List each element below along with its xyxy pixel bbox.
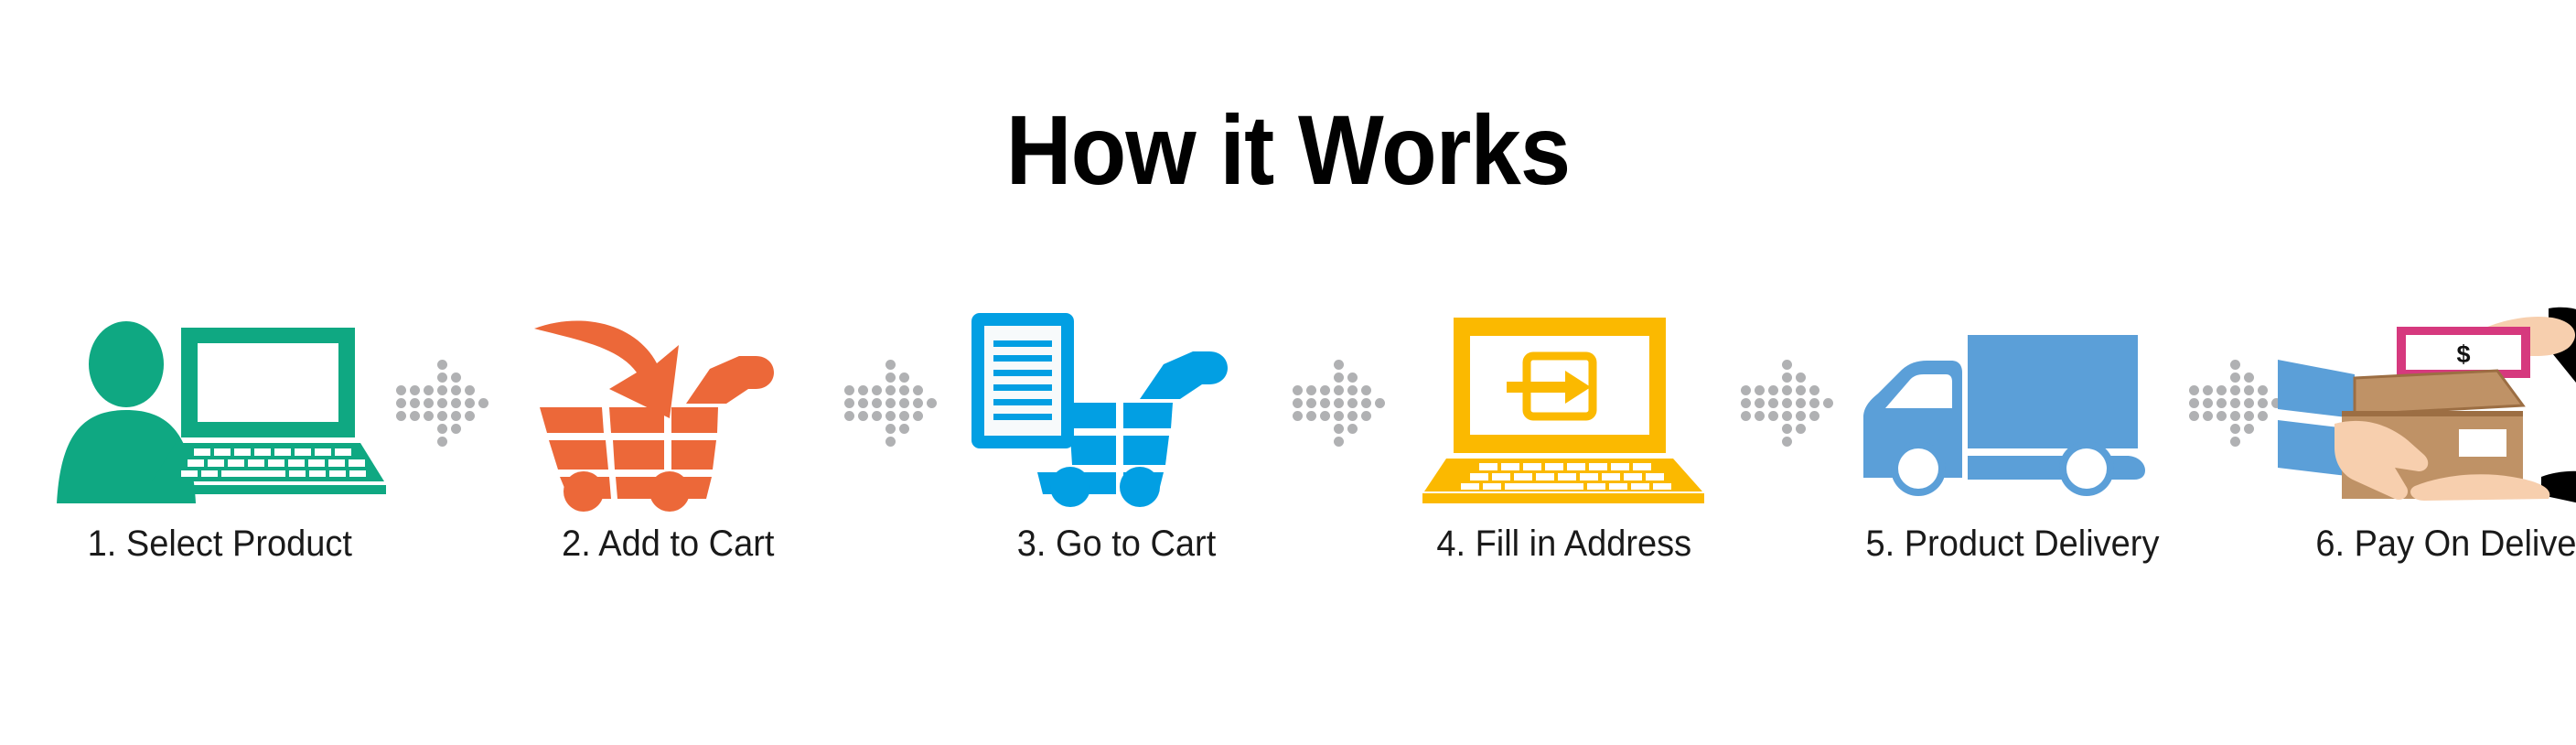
how-it-works-infographic: How it Works: [0, 0, 2576, 745]
step-3-label: 3. Go to Cart: [1016, 524, 1216, 565]
step-5-label: 5. Product Delivery: [1865, 524, 2159, 565]
delivery-truck-icon: [1862, 329, 2163, 503]
banknote-dollar-symbol: $: [2456, 340, 2470, 368]
person-laptop-icon: [55, 320, 384, 503]
step-6-icon-area: $: [2278, 302, 2576, 503]
step-5-icon-area: [1830, 302, 2195, 503]
separator-4: [1747, 302, 1830, 503]
separator-1: [402, 302, 485, 503]
step-1-select-product[interactable]: 1. Select Product: [37, 302, 402, 565]
step-4-icon-area: [1381, 302, 1747, 503]
dotted-arrow-right-icon: [2189, 358, 2285, 448]
document-cart-icon: [970, 311, 1262, 503]
step-1-label: 1. Select Product: [87, 524, 351, 565]
step-4-label: 4. Fill in Address: [1437, 524, 1692, 565]
separator-2: [851, 302, 933, 503]
dotted-arrow-right-icon: [396, 358, 492, 448]
hands-box-money-icon: $: [2278, 307, 2576, 503]
step-3-go-to-cart[interactable]: 3. Go to Cart: [933, 302, 1299, 565]
step-1-icon-area: [37, 302, 402, 503]
step-3-icon-area: [933, 302, 1299, 503]
step-2-add-to-cart[interactable]: 2. Add to Cart: [485, 302, 851, 565]
step-6-pay-on-delivery[interactable]: $ 6. Pay On Delivery: [2278, 302, 2576, 565]
step-2-label: 2. Add to Cart: [562, 524, 774, 565]
step-5-product-delivery[interactable]: 5. Product Delivery: [1830, 302, 2195, 565]
steps-row: 1. Select Product: [37, 302, 2543, 686]
laptop-login-icon: [1422, 316, 1706, 503]
dotted-arrow-right-icon: [844, 358, 940, 448]
dotted-arrow-right-icon: [1293, 358, 1389, 448]
step-2-icon-area: [485, 302, 851, 503]
step-4-fill-in-address[interactable]: 4. Fill in Address: [1381, 302, 1747, 565]
dotted-arrow-right-icon: [1741, 358, 1837, 448]
step-6-label: 6. Pay On Delivery: [2316, 524, 2576, 565]
cart-arrow-icon: [531, 316, 805, 503]
separator-5: [2195, 302, 2278, 503]
page-title: How it Works: [103, 101, 2474, 200]
separator-3: [1299, 302, 1381, 503]
